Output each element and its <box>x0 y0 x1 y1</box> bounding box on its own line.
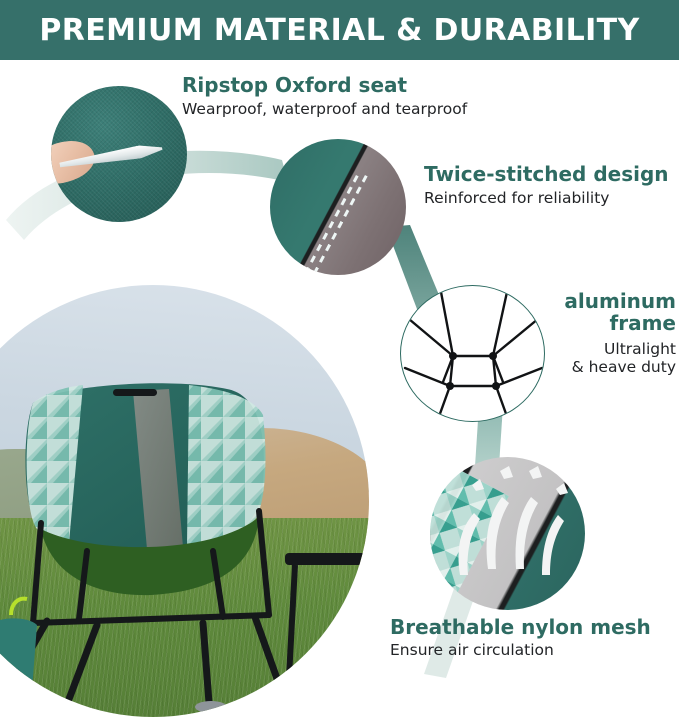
airflow-arrows-icon <box>430 457 585 610</box>
callout-ripstop-heading: Ripstop Oxford seat <box>182 74 512 96</box>
callout-frame-subtext-line2: & heave duty <box>516 358 676 376</box>
callout-mesh-heading: Breathable nylon mesh <box>390 616 679 638</box>
camping-chair-illustration <box>0 285 369 717</box>
product-photo <box>0 285 369 717</box>
page-title: PREMIUM MATERIAL & DURABILITY <box>39 13 639 48</box>
callout-ripstop-subtext: Wearproof, waterproof and tearproof <box>182 100 512 118</box>
callout-stitching-heading: Twice-stitched design <box>424 163 679 185</box>
callout-frame-text: aluminum frame Ultralight & heave duty <box>516 290 676 376</box>
callout-mesh-text: Breathable nylon mesh Ensure air circula… <box>390 616 679 660</box>
callout-stitching-subtext: Reinforced for reliability <box>424 189 679 207</box>
breathable-mesh-icon <box>430 457 585 610</box>
ripstop-fabric-icon <box>51 86 187 222</box>
callout-ripstop-text: Ripstop Oxford seat Wearproof, waterproo… <box>182 74 512 119</box>
callout-frame-heading-line2: frame <box>516 312 676 334</box>
callout-frame-subtext-line1: Ultralight <box>516 340 676 358</box>
callout-mesh-subtext: Ensure air circulation <box>390 641 679 659</box>
double-stitched-seam-icon <box>270 139 406 275</box>
callout-frame-heading-line1: aluminum <box>516 290 676 312</box>
callout-stitching-text: Twice-stitched design Reinforced for rel… <box>424 163 679 208</box>
header-banner: PREMIUM MATERIAL & DURABILITY <box>0 0 679 60</box>
